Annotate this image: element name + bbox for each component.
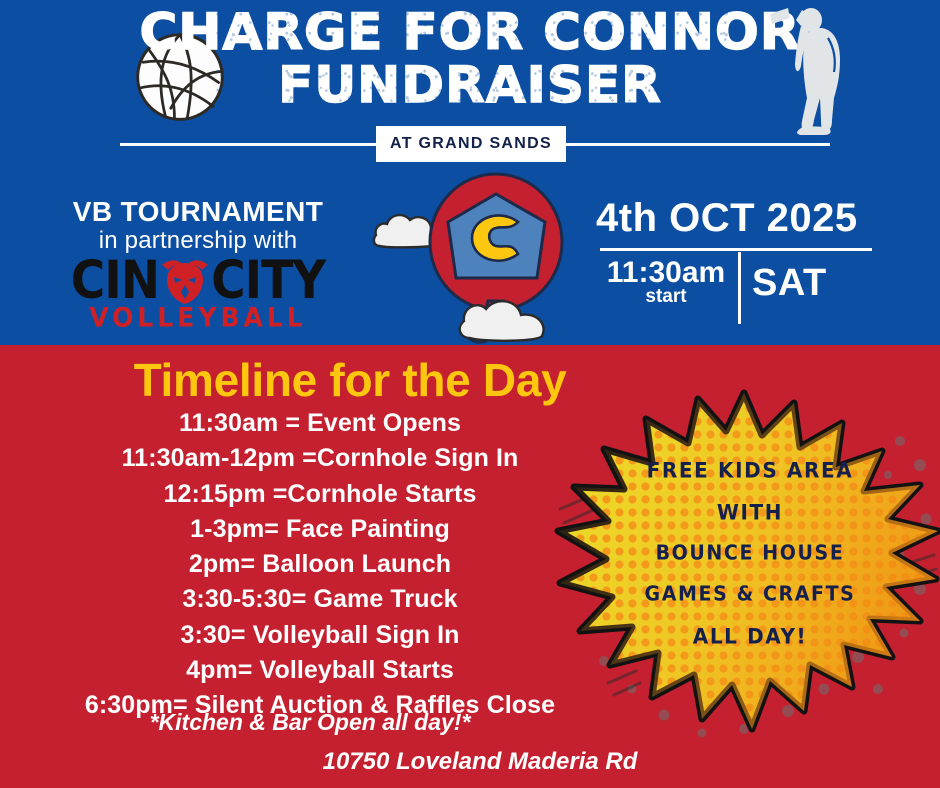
timeline-list: 11:30am = Event Opens 11:30am-12pm =Corn…	[0, 407, 640, 724]
venue-chip: AT GRAND SANDS	[376, 126, 566, 162]
timeline-row: 3:30-5:30= Game Truck	[0, 583, 640, 616]
timeline-row: 11:30am = Event Opens	[0, 407, 640, 440]
event-time-sub: start	[598, 287, 734, 306]
timeline-row-text: 3:30= Volleyball Sign In	[180, 619, 459, 652]
event-time: 11:30am	[598, 258, 734, 288]
venue-band: AT GRAND SANDS	[0, 126, 940, 162]
timeline-row: 3:30= Volleyball Sign In	[0, 619, 640, 652]
bull-head-mascot-icon	[157, 255, 213, 305]
timeline-row-text: 2pm= Balloon Launch	[189, 548, 451, 581]
timeline-row-text: 3:30-5:30= Game Truck	[182, 583, 457, 616]
timeline-row-text: 4pm= Volleyball Starts	[186, 654, 454, 687]
event-flyer: CHARGE FOR CONNOR FUNDRAISER AT GRAND SA…	[0, 0, 940, 788]
timeline-row-text: 12:15pm =Cornhole Starts	[164, 478, 477, 511]
timeline-row: 2pm= Balloon Launch	[0, 548, 640, 581]
venue-address: 10750 Loveland Maderia Rd	[170, 748, 790, 776]
event-time-block: 11:30am start	[598, 258, 734, 306]
band-rule-right	[560, 143, 830, 146]
header-panel: CHARGE FOR CONNOR FUNDRAISER AT GRAND SA…	[0, 0, 940, 345]
timeline-row: 1-3pm= Face Painting	[0, 513, 640, 546]
timeline-row-text: 11:30am-12pm =Cornhole Sign In	[122, 442, 519, 475]
venue-label: AT GRAND SANDS	[390, 135, 552, 153]
logo-sub-volleyball: VOLLEYBALL	[38, 302, 358, 332]
timeline-panel: Timeline for the Day 11:30am = Event Ope…	[0, 345, 940, 788]
event-date: 4th OCT 2025	[596, 196, 886, 241]
date-vertical-divider	[738, 252, 741, 324]
cin-city-logo: CIN CITY	[38, 255, 358, 305]
date-divider	[600, 248, 872, 251]
event-day: SAT	[752, 262, 882, 305]
band-rule-left	[120, 143, 390, 146]
timeline-row: 11:30am-12pm =Cornhole Sign In	[0, 442, 640, 475]
cloud-icon	[460, 301, 544, 341]
kitchen-bar-note: *Kitchen & Bar Open all day!*	[0, 709, 620, 736]
tournament-heading: VB TOURNAMENT	[38, 196, 358, 228]
timeline-row-text: 11:30am = Event Opens	[179, 407, 461, 440]
timeline-row: 4pm= Volleyball Starts	[0, 654, 640, 687]
volleyball-player-silhouette-icon	[752, 2, 864, 138]
balloon-with-c-emblem-icon	[372, 160, 604, 345]
comic-starburst-icon	[548, 389, 940, 744]
timeline-row: 12:15pm =Cornhole Starts	[0, 478, 640, 511]
timeline-row-text: 1-3pm= Face Painting	[190, 513, 450, 546]
